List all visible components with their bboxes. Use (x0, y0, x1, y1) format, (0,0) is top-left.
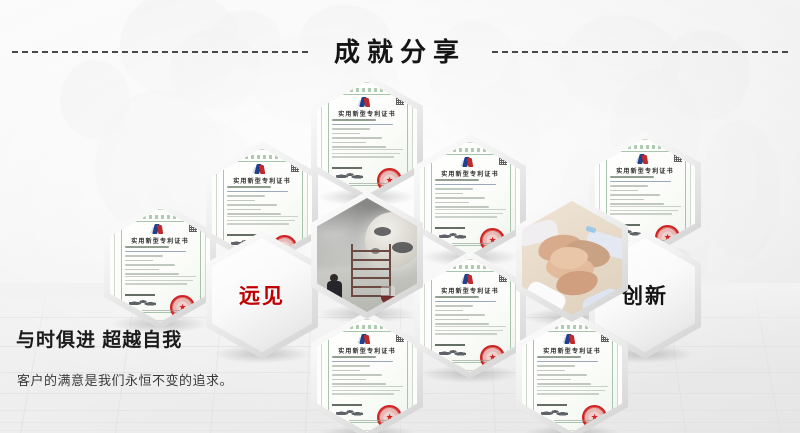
tagline-secondary: 客户的满意是我们永恒不变的追求。 (17, 370, 233, 389)
teamwork-photo (522, 201, 622, 315)
certificate-ornament (131, 215, 189, 219)
certificate-barcode-icon (189, 223, 197, 232)
certificate-signature (129, 298, 156, 307)
certificate-paragraph (537, 386, 608, 397)
hex-inner: 实用新型专利证书 (522, 318, 622, 432)
slide-header: 成就分享 (0, 32, 800, 72)
certificate-ornament (338, 88, 396, 92)
certificate-artwork: 实用新型专利证书 (317, 318, 417, 432)
patent-office-logo-icon (359, 334, 372, 345)
certificate-artwork: 实用新型专利证书 (420, 258, 520, 372)
certificate-sheet: 实用新型专利证书 (424, 259, 516, 371)
vision-label: 远见 (212, 238, 312, 352)
header-rule-right (492, 51, 788, 53)
glass-icon (381, 286, 395, 304)
certificate-barcode-icon (499, 273, 507, 282)
certificate-fields (610, 176, 681, 208)
certificate-footer-line (349, 183, 387, 185)
certificate-fields (332, 356, 403, 388)
certificate-ornament (441, 265, 499, 269)
certificate-barcode-icon (601, 333, 609, 342)
certificate-sheet: 实用新型专利证书 (321, 82, 413, 194)
certificate-barcode-icon (396, 333, 404, 342)
certificate-ornament (338, 325, 396, 329)
certificate-barcode-icon (499, 156, 507, 165)
certificate-fields (125, 246, 196, 278)
certificate-sheet: 实用新型专利证书 (321, 319, 413, 431)
slide-canvas: 成就分享 实用新型专利证书 (0, 0, 800, 433)
certificate-divider (332, 167, 363, 169)
certificate-title: 实用新型专利证书 (527, 346, 617, 355)
hex-inner: 远见 (212, 238, 312, 352)
certificate-divider (537, 404, 568, 406)
certificate-divider (227, 234, 258, 236)
patent-office-logo-icon (462, 157, 475, 168)
patent-office-logo-icon (152, 224, 165, 235)
patent-office-logo-icon (564, 334, 577, 345)
certificate-title: 实用新型专利证书 (115, 236, 205, 245)
certificate-artwork: 实用新型专利证书 (317, 81, 417, 195)
certificate-footer-line (554, 420, 592, 422)
certificate-barcode-icon (674, 153, 682, 162)
patent-office-logo-icon (359, 97, 372, 108)
certificate-sheet: 实用新型专利证书 (424, 142, 516, 254)
certificate-signature (336, 171, 363, 180)
certificate-fields (227, 186, 298, 218)
certificate-barcode-icon (396, 96, 404, 105)
certificate-title: 实用新型专利证书 (322, 346, 412, 355)
hex-inner: 实用新型专利证书 (110, 208, 210, 322)
certificate-ornament (441, 148, 499, 152)
patent-office-logo-icon (254, 164, 267, 175)
certificate-ornament (543, 325, 601, 329)
certificate-footer-line (452, 360, 490, 362)
certificate-fields (435, 296, 506, 328)
certificate-artwork: 实用新型专利证书 (420, 141, 520, 255)
certificate-signature (439, 231, 466, 240)
certificate-divider (125, 294, 156, 296)
certificate-signature (336, 408, 363, 417)
certificate-artwork: 实用新型专利证书 (522, 318, 622, 432)
certificate-paragraph (435, 326, 506, 337)
certificate-paragraph (332, 386, 403, 397)
patent-office-logo-icon (462, 274, 475, 285)
certificate-paragraph (435, 209, 506, 220)
certificate-fields (537, 356, 608, 388)
certificate-ornament (616, 145, 674, 149)
certificate-signature (439, 348, 466, 357)
certificate-footer-line (142, 310, 180, 312)
certificate-paragraph (125, 276, 196, 287)
certificate-paragraph (332, 149, 403, 160)
certificate-sheet: 实用新型专利证书 (114, 209, 206, 321)
certificate-fields (332, 119, 403, 151)
wristwatch-icon (586, 226, 597, 234)
certificate-title: 实用新型专利证书 (425, 169, 515, 178)
certificate-sheet: 实用新型专利证书 (526, 319, 618, 431)
patent-office-logo-icon (637, 154, 650, 165)
hex-inner: 实用新型专利证书 (317, 81, 417, 195)
hex-inner (522, 201, 622, 315)
certificate-barcode-icon (291, 163, 299, 172)
certificate-title: 实用新型专利证书 (425, 286, 515, 295)
hex-inner: 实用新型专利证书 (420, 141, 520, 255)
hex-inner: 实用新型专利证书 (317, 318, 417, 432)
certificate-fields (435, 179, 506, 211)
certificate-divider (332, 404, 363, 406)
certificate-artwork: 实用新型专利证书 (110, 208, 210, 322)
certificate-divider (435, 344, 466, 346)
page-title: 成就分享 (308, 39, 492, 65)
hex-inner: 实用新型专利证书 (420, 258, 520, 372)
certificate-title: 实用新型专利证书 (600, 166, 690, 175)
certificate-title: 实用新型专利证书 (322, 109, 412, 118)
certificate-footer-line (349, 420, 387, 422)
certificate-signature (541, 408, 568, 417)
certificate-ornament (233, 155, 291, 159)
certificate-paragraph (610, 206, 681, 217)
hex-inner (317, 198, 417, 312)
header-rule-left (12, 51, 308, 53)
certificate-title: 实用新型专利证书 (217, 176, 307, 185)
certificate-footer-line (452, 243, 490, 245)
vision-photo (317, 198, 417, 312)
certificate-divider (435, 227, 466, 229)
certificate-paragraph (227, 216, 298, 227)
